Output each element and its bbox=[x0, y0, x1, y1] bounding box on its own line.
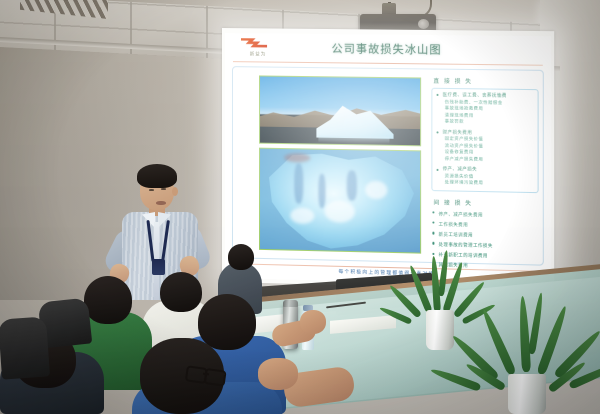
plant-leaf bbox=[518, 296, 531, 372]
attendee-head bbox=[198, 294, 256, 350]
ice-highlight bbox=[290, 207, 314, 224]
attendee-head bbox=[84, 276, 132, 324]
attendee-hand bbox=[300, 310, 326, 334]
plant-pot bbox=[426, 310, 454, 350]
attendee-head bbox=[228, 244, 254, 270]
bullet-group: 医疗费、误工费、丧葬抚恤费 伤残补助费、一次性赔偿金 事故现场抢救费用 清理现场… bbox=[435, 92, 534, 127]
direct-loss-heading: 直 接 损 失 bbox=[433, 77, 538, 86]
spider-plant-front bbox=[470, 292, 588, 414]
slide: 新益为 公司事故损失冰山图 bbox=[225, 33, 551, 286]
presenter-eye bbox=[149, 189, 154, 191]
bullet-item: 医疗费、误工费、丧葬抚恤费 bbox=[435, 92, 534, 100]
bullet-subitem: 事故罚款 bbox=[435, 118, 534, 126]
ice-crevasse bbox=[347, 170, 357, 200]
slide-header: 新益为 公司事故损失冰山图 bbox=[225, 33, 551, 65]
presenter-eye bbox=[161, 188, 166, 190]
thermos-cap bbox=[283, 300, 298, 307]
projector-lens bbox=[418, 19, 429, 29]
ice-highlight bbox=[365, 181, 387, 200]
bullet-subitem: 停产减产损失费用 bbox=[435, 156, 534, 164]
slide-photos bbox=[259, 73, 421, 255]
plant-pot bbox=[508, 374, 546, 414]
bullet-subitem: 处理环境污染费用 bbox=[435, 179, 534, 187]
bullet-group: 停产、减产损失 资源损失价值 处理环境污染费用 bbox=[435, 166, 534, 188]
slide-body: 直 接 损 失 医疗费、误工费、丧葬抚恤费 伤残补助费、一次性赔偿金 事故现场抢… bbox=[232, 66, 544, 266]
ice-red-tint bbox=[284, 153, 310, 163]
slide-text-column: 直 接 损 失 医疗费、误工费、丧葬抚恤费 伤残补助费、一次性赔偿金 事故现场抢… bbox=[431, 74, 538, 261]
presenter-ear bbox=[172, 187, 178, 196]
conference-room-photo: 新益为 公司事故损失冰山图 bbox=[0, 0, 600, 414]
projection-screen: 新益为 公司事故损失冰山图 bbox=[222, 28, 554, 290]
ice-crevasse bbox=[318, 174, 325, 208]
ice-crevasse bbox=[294, 163, 303, 203]
glasses-bridge bbox=[203, 373, 209, 376]
attendee-head bbox=[160, 272, 202, 312]
plant-leaf bbox=[438, 250, 450, 296]
spider-plant-back bbox=[404, 248, 480, 358]
chair-back bbox=[0, 316, 50, 379]
water-reflection bbox=[318, 136, 389, 144]
presenter-hair bbox=[137, 164, 177, 188]
ice-highlight bbox=[324, 200, 354, 223]
direct-loss-box: 医疗费、误工费、丧葬抚恤费 伤残补助费、一次性赔偿金 事故现场抢救费用 清理现场… bbox=[431, 88, 538, 193]
presenter-mouth bbox=[156, 201, 166, 205]
screen-surface: 新益为 公司事故损失冰山图 bbox=[222, 28, 554, 290]
bullet-group: 财产损失费用 固定资产损失价值 流动资产损失价值 设备修复费用 停产减产损失费用 bbox=[435, 129, 534, 164]
iceberg-above-water-photo bbox=[259, 75, 421, 146]
plant-leaf bbox=[528, 292, 545, 354]
id-badge bbox=[152, 259, 165, 275]
indirect-loss-heading: 间 接 损 失 bbox=[433, 198, 538, 208]
attendee-hand bbox=[258, 358, 298, 390]
iceberg-below-water-photo bbox=[259, 148, 421, 254]
